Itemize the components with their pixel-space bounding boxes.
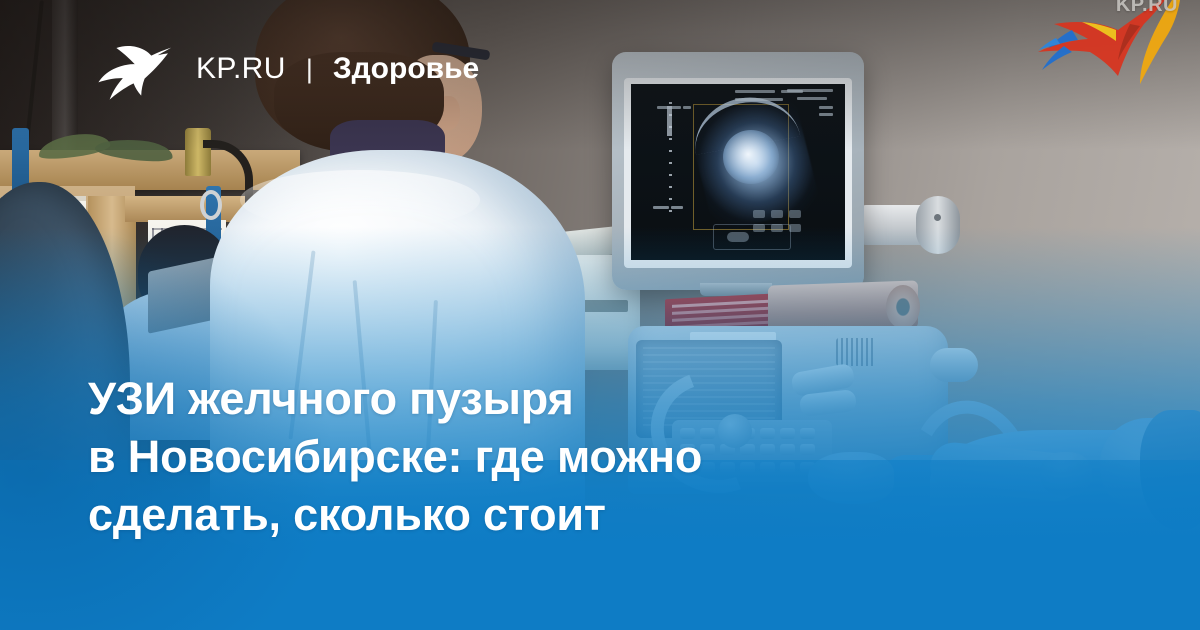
headline-line-3: сделать, сколько стоит	[88, 486, 702, 544]
brand-section-label: Здоровье	[333, 54, 479, 84]
social-share-card: KP.RU | Здоровье KP.RU УЗИ желчного пузы…	[0, 0, 1200, 630]
headline-line-2: в Новосибирске: где можно	[88, 428, 702, 486]
watermark-label: KP.RU	[1116, 0, 1178, 17]
brand-header[interactable]: KP.RU | Здоровье	[98, 38, 479, 100]
brand-divider: |	[306, 56, 313, 83]
headline-line-1: УЗИ желчного пузыря	[88, 370, 702, 428]
kp-watermark: KP.RU	[1020, 0, 1186, 86]
swallow-bird-icon	[98, 38, 172, 100]
brand-name: KP.RU	[196, 54, 286, 84]
headline: УЗИ желчного пузыря в Новосибирске: где …	[88, 370, 702, 544]
